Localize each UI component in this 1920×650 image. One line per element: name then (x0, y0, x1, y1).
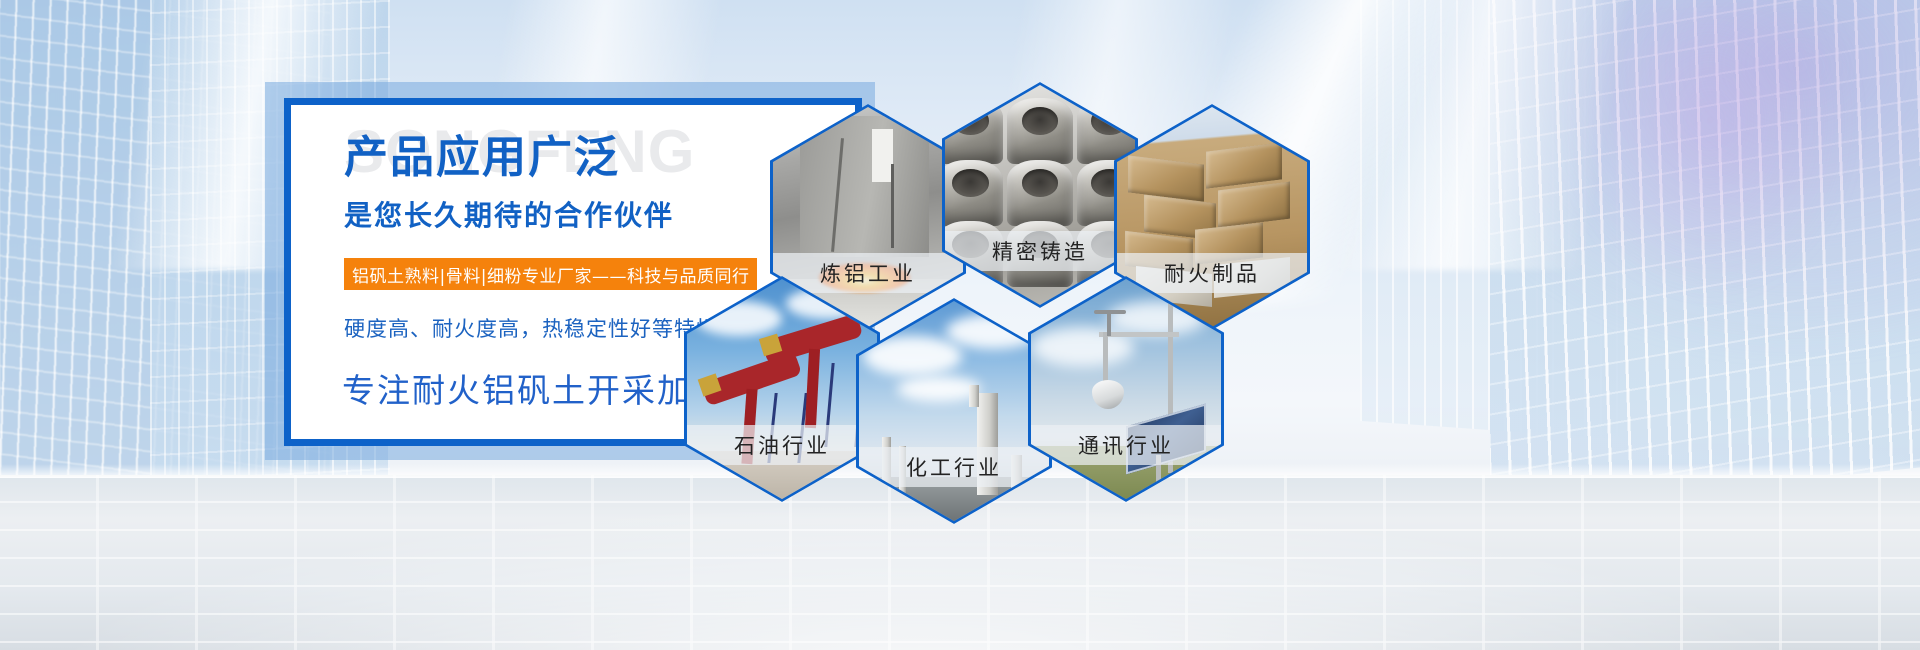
hex-label-text: 炼铝工业 (820, 258, 916, 288)
precision-casting-scene-icon (945, 85, 1135, 305)
hex-label-container: 耐火制品 (1117, 253, 1307, 293)
hex-tile-precision-casting[interactable]: 精密铸造 (942, 82, 1138, 308)
hex-label-text: 化工行业 (906, 452, 1002, 482)
hex-label-text: 精密铸造 (992, 236, 1088, 266)
banner-stage: SONGFENG 产品应用广泛 是您长久期待的合作伙伴 铝矾土熟料|骨料|细粉专… (0, 0, 1920, 650)
hex-photo-chemical-industry: 化工行业 (859, 301, 1049, 521)
hex-tile-chemical-industry[interactable]: 化工行业 (856, 298, 1052, 524)
hex-label-container: 化工行业 (859, 447, 1049, 487)
hex-photo-precision-casting: 精密铸造 (945, 85, 1135, 305)
chemical-industry-scene-icon (859, 301, 1049, 521)
headline: 产品应用广泛 (344, 136, 620, 180)
hex-label-text: 耐火制品 (1164, 258, 1260, 288)
industry-hexagon-grid: 炼铝工业 精密铸造 (660, 60, 1360, 530)
hex-label-text: 通讯行业 (1078, 430, 1174, 460)
hex-label-container: 炼铝工业 (773, 253, 963, 293)
hex-label-container: 通讯行业 (1031, 425, 1221, 465)
subheadline: 是您长久期待的合作伙伴 (344, 202, 674, 230)
hex-label-text: 石油行业 (734, 430, 830, 460)
hex-label-container: 精密铸造 (945, 231, 1135, 271)
hex-label-container: 石油行业 (687, 425, 877, 465)
